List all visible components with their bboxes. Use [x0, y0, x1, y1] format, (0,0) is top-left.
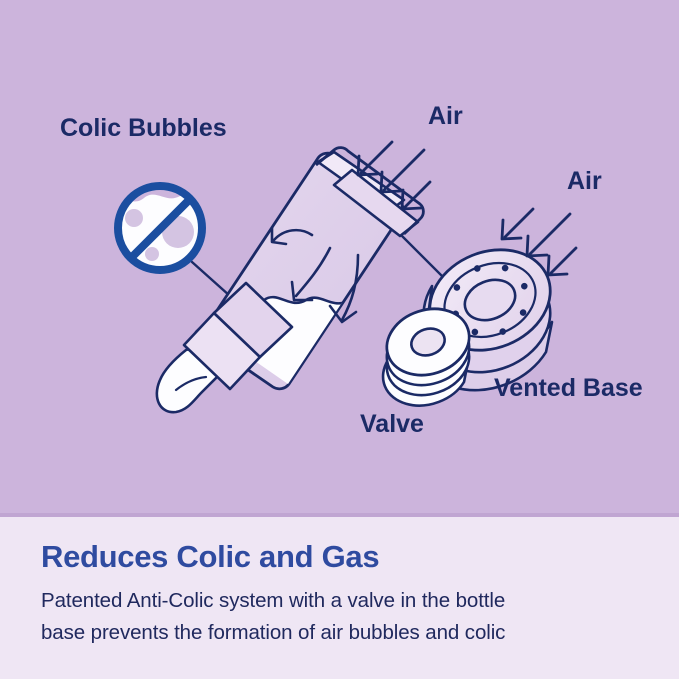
bubble-medium	[125, 209, 143, 227]
bottle-diagram: Colic Bubbles Air Air Valve Vented Base	[0, 0, 679, 516]
label-valve: Valve	[360, 410, 424, 438]
bubble-small	[145, 247, 159, 261]
label-colic-bubbles: Colic Bubbles	[60, 114, 227, 142]
caption-body: Patented Anti-Colic system with a valve …	[41, 585, 651, 649]
caption-body-line-2: base prevents the formation of air bubbl…	[41, 617, 651, 649]
no-bubbles-icon	[112, 186, 212, 276]
label-air-right: Air	[567, 167, 602, 195]
label-air-top: Air	[428, 102, 463, 130]
arrow-down-left-icon-5	[527, 214, 570, 256]
label-vented-base: Vented Base	[494, 374, 643, 402]
caption-panel: Reduces Colic and Gas Patented Anti-Coli…	[0, 517, 679, 679]
illustration-panel: Colic Bubbles Air Air Valve Vented Base	[0, 0, 679, 516]
product-feature-infographic: Colic Bubbles Air Air Valve Vented Base …	[0, 0, 679, 679]
caption-headline: Reduces Colic and Gas	[41, 539, 379, 575]
caption-body-line-1: Patented Anti-Colic system with a valve …	[41, 585, 651, 617]
arrow-down-left-icon-6	[548, 248, 576, 275]
arrow-down-left-icon-2	[381, 150, 424, 192]
arrow-down-left-icon-4	[502, 209, 533, 239]
